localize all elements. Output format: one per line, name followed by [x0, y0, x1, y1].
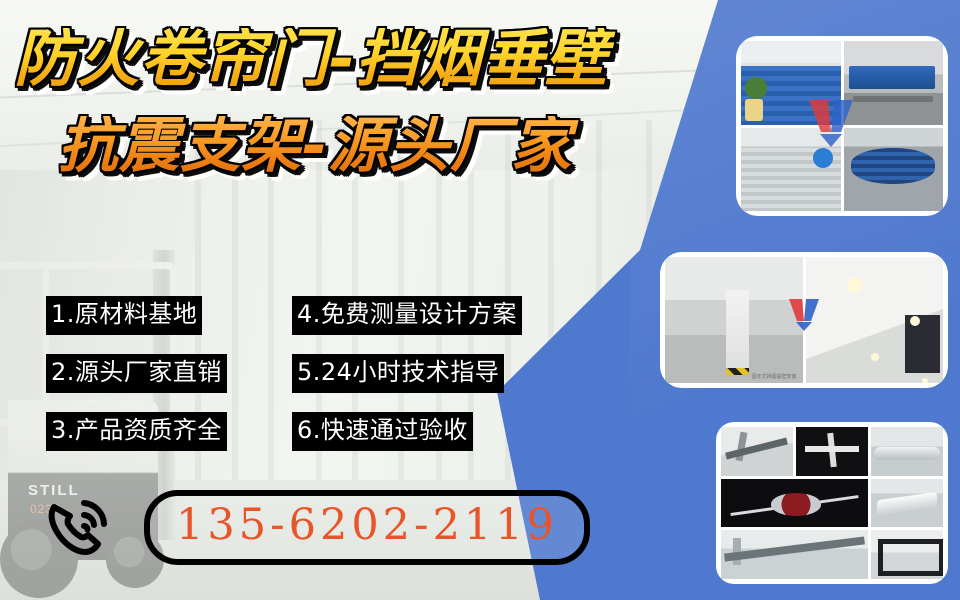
- photo-caption: 固定式挡烟垂壁安装: [751, 373, 796, 380]
- feature-item-4: 4.免费测量设计方案: [292, 296, 522, 335]
- photo-pipe-clamp-bracket: [871, 427, 943, 476]
- headline-primary: 防火卷帘门-挡烟垂壁: [0, 28, 700, 90]
- photo-dark-bracket-closeup: [796, 427, 868, 476]
- smoke-barrier-installation-collage[interactable]: 固定式挡烟垂壁安装: [660, 252, 948, 388]
- headline-secondary: 抗震支架-源头厂家: [0, 116, 700, 176]
- seismic-bracket-collage[interactable]: [716, 422, 948, 584]
- advertisement-banner: STILL 0234 防火卷帘门-挡烟垂壁 抗震支架-源头厂家 1.原材料基地 …: [0, 0, 960, 600]
- feature-item-2: 2.源头厂家直销: [46, 354, 227, 393]
- phone-call-icon: [40, 488, 118, 566]
- photo-steel-frame-bracket: [871, 530, 943, 579]
- phone-number-pill[interactable]: 135-6202-2119: [144, 490, 590, 565]
- photo-ceiling-pipe-bracket: [721, 427, 793, 476]
- photo-blue-rolling-shutter-door: [741, 41, 841, 125]
- photo-ceiling-installation-interior: [806, 257, 944, 383]
- photo-grey-metal-shutter-interior: [741, 128, 841, 212]
- feature-item-3: 3.产品资质齐全: [46, 412, 227, 451]
- feature-item-1: 1.原材料基地: [46, 296, 202, 335]
- contact-row[interactable]: 135-6202-2119: [40, 488, 590, 566]
- photo-rail-support-bracket: [721, 530, 868, 579]
- feature-item-5: 5.24小时技术指导: [292, 354, 504, 393]
- headline-block: 防火卷帘门-挡烟垂壁 抗震支架-源头厂家: [0, 28, 700, 176]
- photo-blue-shutter-roll-drum: [844, 128, 944, 212]
- fire-shutter-door-collage[interactable]: [736, 36, 948, 216]
- photo-duct-support-bracket: [871, 479, 943, 528]
- photo-shutter-production-line: [844, 41, 944, 125]
- feature-item-6: 6.快速通过验收: [292, 412, 473, 451]
- phone-number: 135-6202-2119: [176, 504, 558, 547]
- feature-list: 1.原材料基地 4.免费测量设计方案 2.源头厂家直销 5.24小时技术指导 3…: [46, 296, 566, 470]
- photo-parking-garage-interior: 固定式挡烟垂壁安装: [665, 257, 803, 383]
- photo-ceiling-fan-bracket: [721, 479, 868, 528]
